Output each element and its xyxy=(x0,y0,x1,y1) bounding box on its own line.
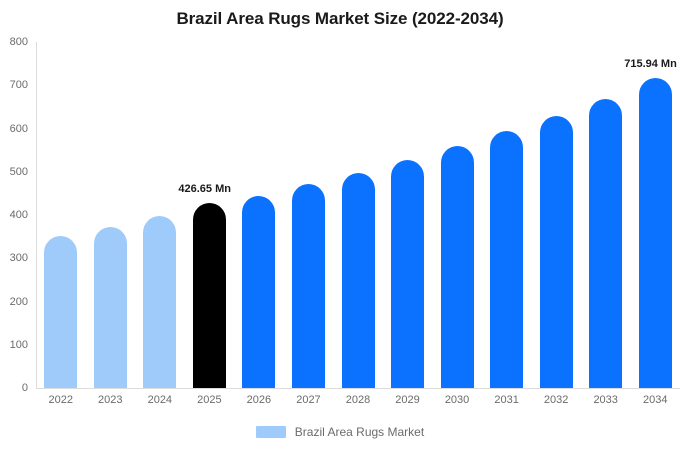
y-axis-tick-label: 0 xyxy=(0,382,28,394)
x-axis-tick-label: 2022 xyxy=(36,394,86,406)
bar[interactable] xyxy=(589,99,622,388)
bar-group[interactable] xyxy=(94,42,127,388)
bar[interactable] xyxy=(540,116,573,388)
bar[interactable] xyxy=(490,131,523,388)
x-axis-line xyxy=(36,388,680,389)
legend-swatch xyxy=(256,426,286,438)
y-axis-tick-label: 700 xyxy=(0,79,28,91)
bar-group[interactable] xyxy=(441,42,474,388)
bar-chart: Brazil Area Rugs Market Size (2022-2034)… xyxy=(0,0,680,450)
bar[interactable] xyxy=(342,173,375,388)
bar[interactable] xyxy=(639,78,672,388)
bar-group[interactable] xyxy=(193,42,226,388)
y-axis-tick-label: 400 xyxy=(0,209,28,221)
bar-group[interactable] xyxy=(242,42,275,388)
chart-legend: Brazil Area Rugs Market xyxy=(0,425,680,439)
bar[interactable] xyxy=(242,196,275,388)
x-axis-tick-label: 2027 xyxy=(284,394,334,406)
bar-group[interactable] xyxy=(540,42,573,388)
y-axis-tick-label: 200 xyxy=(0,296,28,308)
y-axis-tick-label: 300 xyxy=(0,252,28,264)
y-axis-tick-label: 100 xyxy=(0,339,28,351)
bar[interactable] xyxy=(44,236,77,388)
bar[interactable] xyxy=(292,184,325,388)
bar[interactable] xyxy=(143,216,176,388)
x-axis-tick-label: 2028 xyxy=(333,394,383,406)
bar-value-label: 426.65 Mn xyxy=(178,183,231,195)
bar-group[interactable] xyxy=(44,42,77,388)
bar[interactable] xyxy=(94,227,127,388)
x-axis-tick-label: 2032 xyxy=(531,394,581,406)
x-axis-tick-label: 2026 xyxy=(234,394,284,406)
legend-label[interactable]: Brazil Area Rugs Market xyxy=(295,425,424,439)
y-axis-tick-label: 800 xyxy=(0,36,28,48)
bar-group[interactable] xyxy=(639,42,672,388)
bar[interactable] xyxy=(441,146,474,388)
x-axis-tick-label: 2023 xyxy=(86,394,136,406)
bar[interactable] xyxy=(391,160,424,388)
bar-group[interactable] xyxy=(589,42,622,388)
x-axis-tick-label: 2025 xyxy=(185,394,235,406)
x-axis-tick-label: 2030 xyxy=(432,394,482,406)
x-axis-tick-label: 2029 xyxy=(383,394,433,406)
x-axis-tick-label: 2034 xyxy=(630,394,680,406)
bar[interactable] xyxy=(193,203,226,388)
bar-value-label: 715.94 Mn xyxy=(624,58,677,70)
bar-group[interactable] xyxy=(292,42,325,388)
x-axis-tick-label: 2033 xyxy=(581,394,631,406)
plot-area xyxy=(36,42,680,388)
x-axis-tick-label: 2024 xyxy=(135,394,185,406)
chart-title: Brazil Area Rugs Market Size (2022-2034) xyxy=(0,9,680,29)
bar-group[interactable] xyxy=(391,42,424,388)
y-axis-tick-label: 600 xyxy=(0,123,28,135)
bar-group[interactable] xyxy=(143,42,176,388)
x-axis-tick-label: 2031 xyxy=(482,394,532,406)
bar-group[interactable] xyxy=(490,42,523,388)
bar-group[interactable] xyxy=(342,42,375,388)
y-axis-tick-label: 500 xyxy=(0,166,28,178)
